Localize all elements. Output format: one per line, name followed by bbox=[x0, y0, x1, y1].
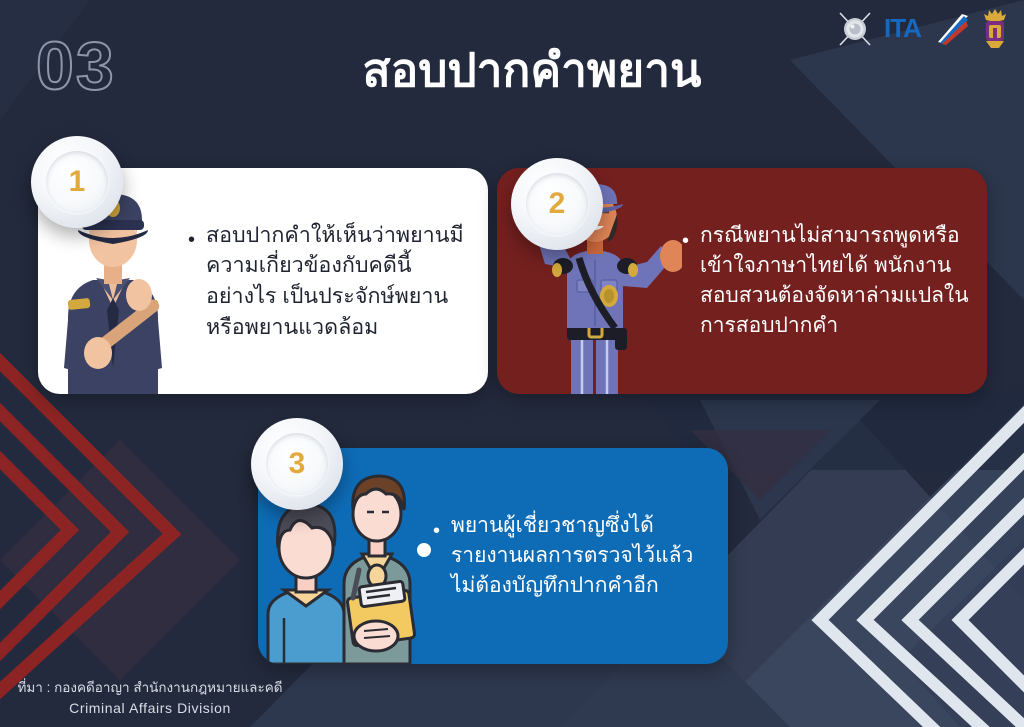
card-1-text: สอบปากคำให้เห็นว่าพยานมีความเกี่ยวข้องกั… bbox=[206, 220, 472, 342]
svg-text:ITA: ITA bbox=[884, 13, 922, 43]
source-text-th: ที่มา : กองคดีอาญา สำนักงานกฎหมายและคดี bbox=[10, 678, 290, 698]
source-footer: ที่มา : กองคดีอาญา สำนักงานกฎหมายและคดี … bbox=[10, 678, 290, 719]
step-badge-2-number: 2 bbox=[549, 189, 566, 219]
step-badge-2-inner: 2 bbox=[526, 173, 588, 235]
step-badge-1: 1 bbox=[31, 136, 123, 228]
card-3-body: • พยานผู้เชี่ยวชาญซึ่งได้รายงานผลการตรวจ… bbox=[433, 511, 728, 600]
step-badge-2: 2 bbox=[511, 158, 603, 250]
card-2-text: กรณีพยานไม่สามารถพูดหรือเข้าใจภาษาไทยได้… bbox=[700, 221, 971, 340]
ita-logo: ITA bbox=[884, 12, 970, 46]
step-badge-3-number: 3 bbox=[289, 449, 306, 479]
bullet-icon: • bbox=[433, 521, 451, 541]
card-2-body: • กรณีพยานไม่สามารถพูดหรือเข้าใจภาษาไทยไ… bbox=[682, 221, 987, 340]
step-badge-3-inner: 3 bbox=[266, 433, 328, 495]
card-1-body: • สอบปากคำให้เห็นว่าพยานมีความเกี่ยวข้อง… bbox=[188, 220, 488, 342]
logo-bar: ITA bbox=[836, 6, 1010, 52]
royal-mace-emblem-icon bbox=[836, 9, 874, 49]
step-badge-1-number: 1 bbox=[69, 167, 86, 197]
source-text-en: Criminal Affairs Division bbox=[10, 698, 290, 719]
step-badge-1-inner: 1 bbox=[46, 151, 108, 213]
slide-root: 03 สอบปากคำพยาน ITA bbox=[0, 0, 1024, 727]
right-chevron-pattern bbox=[820, 378, 1024, 727]
royal-garuda-emblem-icon bbox=[980, 8, 1010, 50]
bullet-icon: • bbox=[682, 231, 700, 251]
step-badge-3: 3 bbox=[251, 418, 343, 510]
bullet-icon: • bbox=[188, 230, 206, 250]
card-3-text: พยานผู้เชี่ยวชาญซึ่งได้รายงานผลการตรวจไว… bbox=[451, 511, 712, 600]
